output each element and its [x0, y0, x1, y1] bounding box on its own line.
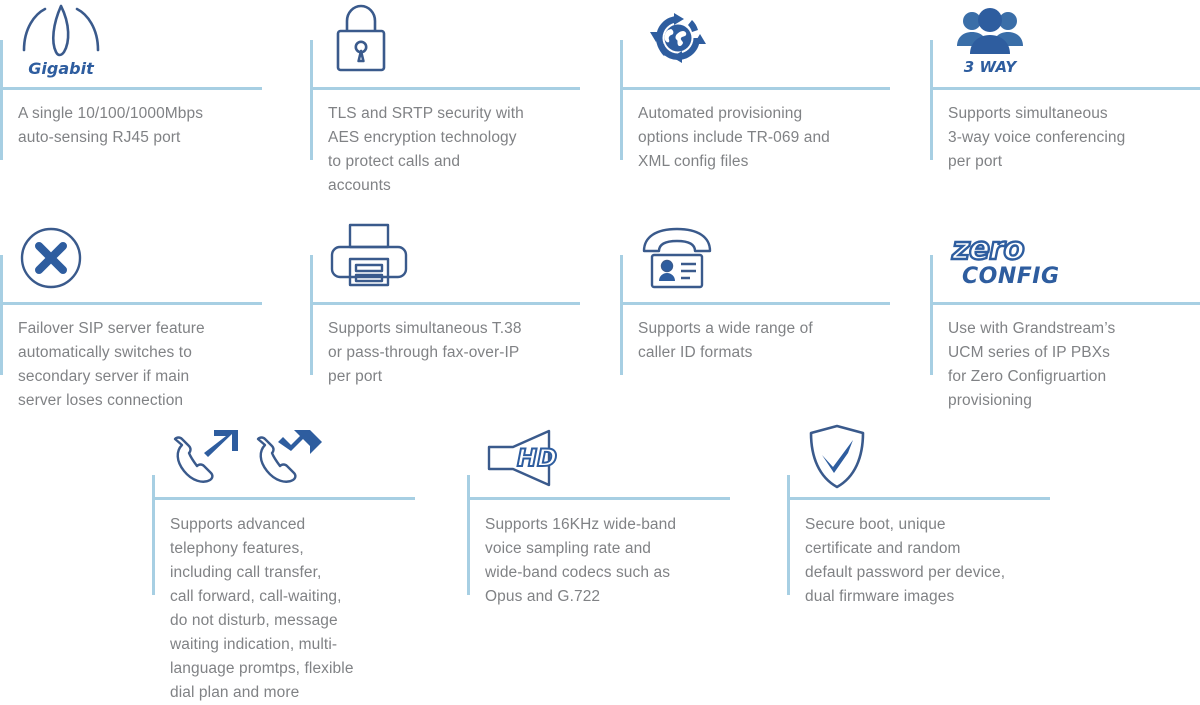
divider-horizontal — [620, 302, 890, 305]
divider-vertical — [152, 475, 155, 595]
svg-text:HD: HD — [517, 444, 557, 472]
feature-description: Supports simultaneous 3-way voice confer… — [948, 102, 1198, 174]
feature-card-hd-wideband-voice: HD Supports 16KHz wide-band voice sampli… — [467, 475, 757, 655]
divider-vertical — [0, 255, 3, 375]
feature-card-failover-sip-server: Failover SIP server feature automaticall… — [0, 255, 290, 415]
feature-card-three-way-conferencing: 3 WAY Supports simultaneous 3-way voice … — [930, 40, 1200, 190]
divider-vertical — [310, 255, 313, 375]
feature-card-automated-provisioning: Automated provisioning options include T… — [620, 40, 910, 190]
divider-horizontal — [467, 497, 730, 500]
divider-vertical — [620, 255, 623, 375]
hd-speaker-icon: HD — [485, 425, 571, 491]
svg-text:3 WAY: 3 WAY — [964, 58, 1019, 76]
feature-description: Automated provisioning options include T… — [638, 102, 903, 174]
divider-vertical — [930, 40, 933, 160]
divider-horizontal — [310, 87, 580, 90]
divider-vertical — [930, 255, 933, 375]
svg-text:Gigabit: Gigabit — [28, 59, 95, 78]
feature-card-fax-over-ip: Supports simultaneous T.38 or pass-throu… — [310, 255, 600, 415]
divider-horizontal — [930, 302, 1200, 305]
divider-horizontal — [152, 497, 415, 500]
divider-vertical — [467, 475, 470, 595]
divider-vertical — [620, 40, 623, 160]
divider-vertical — [787, 475, 790, 595]
divider-horizontal — [930, 87, 1200, 90]
divider-horizontal — [620, 87, 890, 90]
feature-card-advanced-telephony: Supports advanced telephony features, in… — [152, 475, 442, 687]
divider-vertical — [310, 40, 313, 160]
feature-description: Use with Grandstream’s UCM series of IP … — [948, 317, 1200, 413]
feature-card-gigabit-port: Gigabit A single 10/100/1000Mbps auto-se… — [0, 40, 290, 190]
feature-description: Supports simultaneous T.38 or pass-throu… — [328, 317, 596, 389]
call-transfer-forward-icon — [170, 423, 330, 491]
circle-x-icon — [18, 213, 84, 291]
feature-description: Supports a wide range of caller ID forma… — [638, 317, 903, 365]
divider-horizontal — [0, 302, 262, 305]
feature-description: Supports advanced telephony features, in… — [170, 513, 420, 705]
divider-horizontal — [310, 302, 580, 305]
shield-check-icon — [805, 423, 869, 491]
fax-printer-icon — [328, 213, 410, 291]
feature-description: A single 10/100/1000Mbps auto-sensing RJ… — [18, 102, 273, 150]
divider-vertical — [0, 40, 3, 160]
padlock-icon — [328, 2, 394, 76]
phone-caller-id-icon — [638, 213, 716, 291]
feature-description: Failover SIP server feature automaticall… — [18, 317, 273, 413]
feature-description: Secure boot, unique certificate and rand… — [805, 513, 1070, 609]
zero-config-wordmark-icon: zero CONFIG — [948, 219, 1058, 291]
gigabit-speed-icon: Gigabit — [18, 0, 104, 78]
feature-grid: Gigabit A single 10/100/1000Mbps auto-se… — [0, 0, 1200, 687]
svg-text:zero: zero — [951, 231, 1024, 267]
globe-refresh-icon — [638, 0, 718, 78]
divider-horizontal — [0, 87, 262, 90]
feature-card-tls-srtp-security: TLS and SRTP security with AES encryptio… — [310, 40, 600, 190]
three-users-icon: 3 WAY — [948, 4, 1032, 76]
feature-card-zero-config: zero CONFIG Use with Grandstream’s UCM s… — [930, 255, 1200, 415]
feature-description: TLS and SRTP security with AES encryptio… — [328, 102, 593, 198]
svg-text:CONFIG: CONFIG — [962, 264, 1058, 289]
feature-card-caller-id-formats: Supports a wide range of caller ID forma… — [620, 255, 910, 415]
feature-description: Supports 16KHz wide-band voice sampling … — [485, 513, 747, 609]
feature-card-secure-boot: Secure boot, unique certificate and rand… — [787, 475, 1077, 655]
divider-horizontal — [787, 497, 1050, 500]
